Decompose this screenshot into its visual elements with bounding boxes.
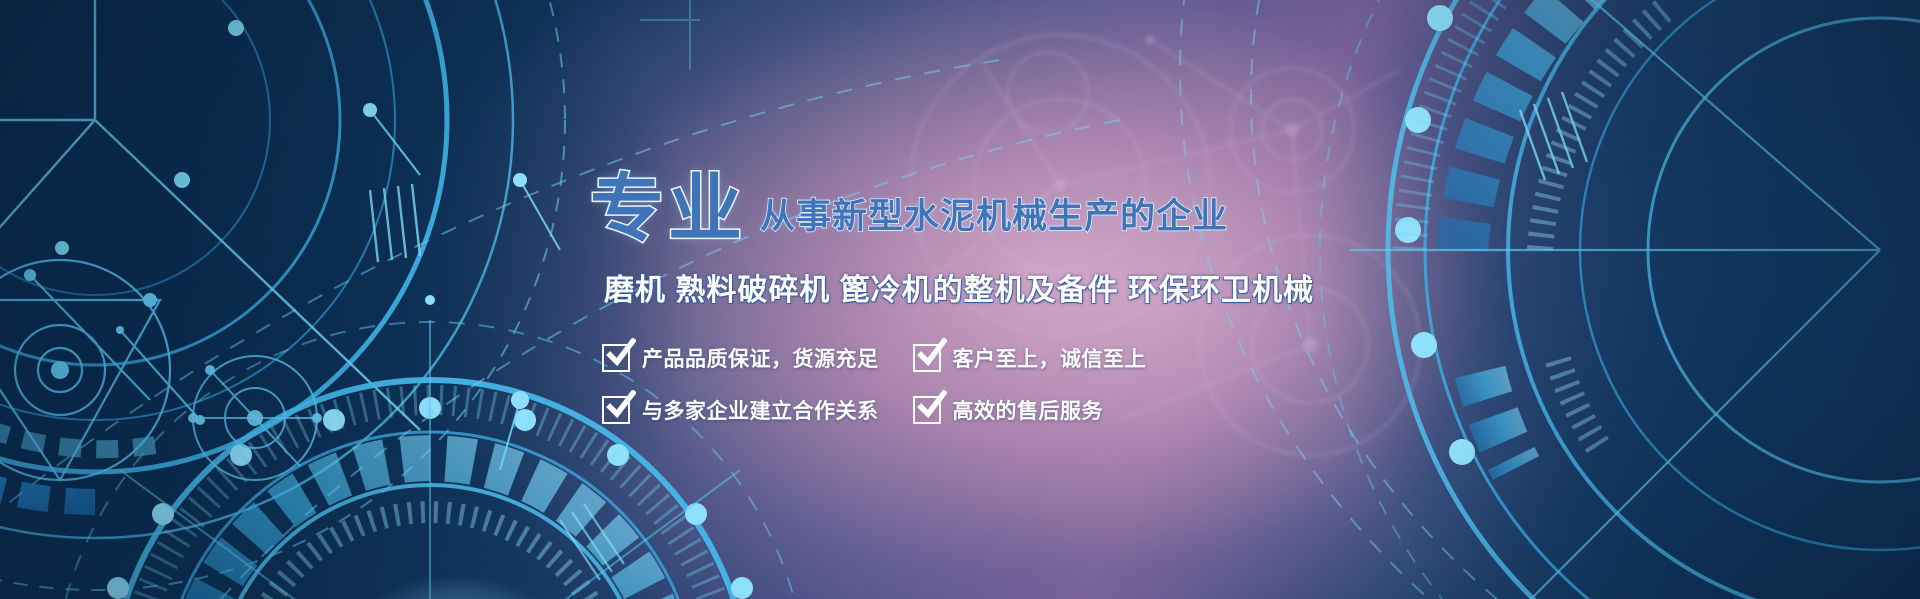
feature-item: 产品品质保证，货源充足 — [602, 343, 879, 373]
check-mark-glyph — [917, 390, 947, 420]
check-mark-glyph — [606, 390, 636, 420]
feature-label: 高效的售后服务 — [953, 395, 1104, 425]
feature-item: 客户至上，诚信至上 — [913, 343, 1147, 373]
check-icon — [602, 344, 630, 372]
feature-list: 产品品质保证，货源充足 客户至上，诚信至上 与多家企业建立合作关系 — [602, 343, 1146, 425]
check-icon — [602, 396, 630, 424]
check-icon — [913, 344, 941, 372]
feature-label: 客户至上，诚信至上 — [953, 343, 1147, 373]
feature-item: 与多家企业建立合作关系 — [602, 395, 879, 425]
feature-item: 高效的售后服务 — [913, 395, 1147, 425]
check-mark-glyph — [917, 338, 947, 368]
banner-content: 专业 从事新型水泥机械生产的企业 磨机 熟料破碎机 篦冷机的整机及备件 环保环卫… — [0, 0, 1920, 599]
feature-label: 产品品质保证，货源充足 — [642, 343, 879, 373]
product-line-text: 磨机 熟料破碎机 篦冷机的整机及备件 环保环卫机械 — [604, 265, 1314, 309]
headline-row: 专业 从事新型水泥机械生产的企业 — [590, 174, 1228, 244]
hero-banner: 专业 从事新型水泥机械生产的企业 磨机 熟料破碎机 篦冷机的整机及备件 环保环卫… — [0, 0, 1920, 599]
check-mark-glyph — [606, 338, 636, 368]
headline-subtitle: 从事新型水泥机械生产的企业 — [760, 188, 1228, 245]
feature-label: 与多家企业建立合作关系 — [642, 395, 879, 425]
check-icon — [913, 396, 941, 424]
headline-main: 专业 — [590, 174, 746, 244]
